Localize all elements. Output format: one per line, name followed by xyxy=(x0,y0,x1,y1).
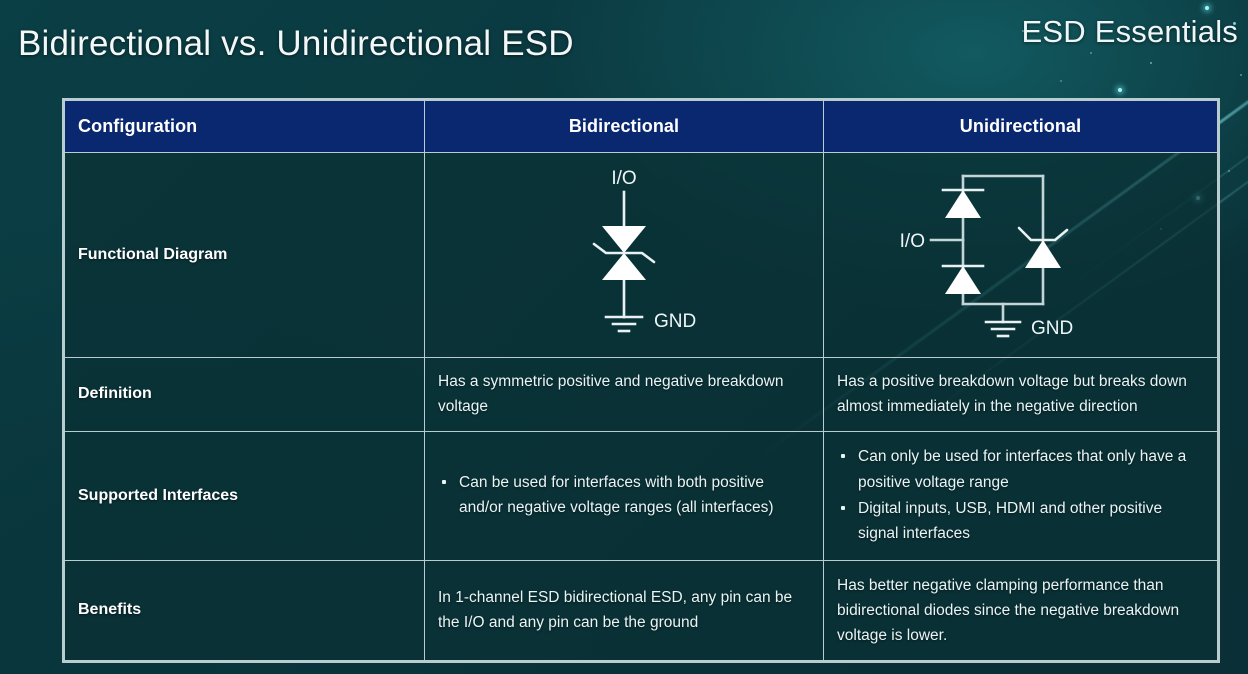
table-header-row: Configuration Bidirectional Unidirection… xyxy=(65,101,1218,153)
supported-interfaces-bidirectional-cell: Can be used for interfaces with both pos… xyxy=(425,431,824,560)
particle-dot-icon xyxy=(1060,80,1062,82)
bullet-list: Can only be used for interfaces that onl… xyxy=(837,444,1203,545)
particle-dot-icon xyxy=(1228,170,1230,172)
bullet-list: Can be used for interfaces with both pos… xyxy=(438,470,809,520)
list-item: Digital inputs, USB, HDMI and other posi… xyxy=(837,496,1203,546)
particle-dot-icon xyxy=(1090,52,1092,54)
comparison-table: Configuration Bidirectional Unidirection… xyxy=(64,100,1218,661)
unidirectional-diagram-cell: I/O GND xyxy=(824,153,1218,358)
table-row: Supported Interfaces Can be used for int… xyxy=(65,431,1218,560)
brand-label: ESD Essentials xyxy=(1022,14,1238,50)
column-header-unidirectional: Unidirectional xyxy=(824,101,1218,153)
table-row: Benefits In 1-channel ESD bidirectional … xyxy=(65,560,1218,660)
supported-interfaces-unidirectional-cell: Can only be used for interfaces that onl… xyxy=(824,431,1218,560)
gnd-label: GND xyxy=(1031,318,1073,339)
io-label: I/O xyxy=(611,168,636,189)
gnd-label: GND xyxy=(654,311,696,332)
row-label-supported-interfaces: Supported Interfaces xyxy=(65,431,425,560)
bidirectional-diagram-cell: I/O GND xyxy=(425,153,824,358)
column-header-configuration: Configuration xyxy=(65,101,425,153)
benefits-unidirectional-text: Has better negative clamping performance… xyxy=(824,560,1218,660)
particle-dot-icon xyxy=(1118,88,1122,92)
table-body: Functional Diagram xyxy=(65,153,1218,661)
unidirectional-steering-diode-zener-icon: I/O GND xyxy=(891,154,1151,357)
row-label-functional-diagram: Functional Diagram xyxy=(65,153,425,358)
table-row: Definition Has a symmetric positive and … xyxy=(65,358,1218,432)
list-item: Can be used for interfaces with both pos… xyxy=(438,470,809,520)
list-item: Can only be used for interfaces that onl… xyxy=(837,444,1203,494)
benefits-bidirectional-text: In 1-channel ESD bidirectional ESD, any … xyxy=(425,560,824,660)
row-label-definition: Definition xyxy=(65,358,425,432)
comparison-table-container: Configuration Bidirectional Unidirection… xyxy=(62,98,1220,663)
definition-bidirectional-text: Has a symmetric positive and negative br… xyxy=(425,358,824,432)
definition-unidirectional-text: Has a positive breakdown voltage but bre… xyxy=(824,358,1218,432)
particle-dot-icon xyxy=(1205,6,1209,10)
table-row: Functional Diagram xyxy=(65,153,1218,358)
particle-dot-icon xyxy=(1240,74,1242,76)
page-title: Bidirectional vs. Unidirectional ESD xyxy=(18,24,574,64)
io-label: I/O xyxy=(899,231,924,252)
row-label-benefits: Benefits xyxy=(65,560,425,660)
table-header: Configuration Bidirectional Unidirection… xyxy=(65,101,1218,153)
slide-canvas: Bidirectional vs. Unidirectional ESD ESD… xyxy=(0,0,1248,674)
particle-dot-icon xyxy=(1150,62,1152,64)
bidirectional-tvs-diode-icon: I/O GND xyxy=(514,154,734,357)
column-header-bidirectional: Bidirectional xyxy=(425,101,824,153)
